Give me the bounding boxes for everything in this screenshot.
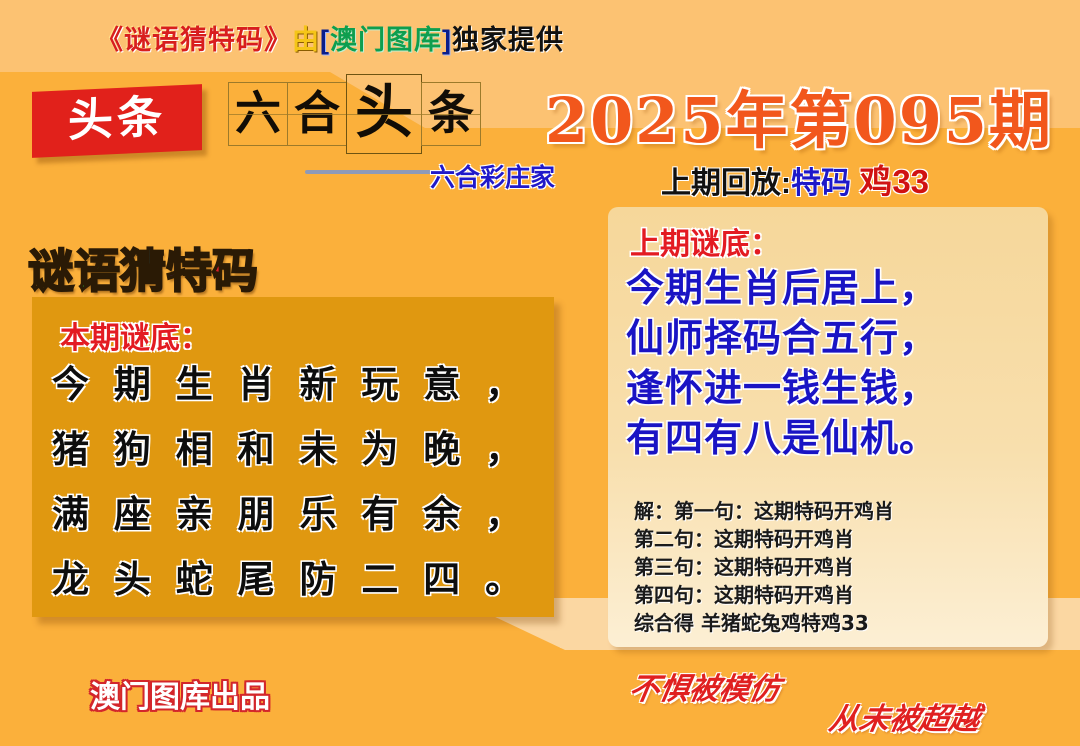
explanation-notes: 解：第一句：这期特码开鸡肖 第二句：这期特码开鸡肖 第三句：这期特码开鸡肖 第四… (634, 497, 1034, 637)
poem-line: 仙师择码合五行， (626, 313, 1036, 363)
explanation-line: 第三句：这期特码开鸡肖 (634, 553, 1034, 581)
tagline-part-bracket-open: [ (320, 25, 330, 55)
recap-value: 鸡33 (859, 163, 929, 200)
headline-badge-label: 头条 (32, 84, 202, 158)
recap-label: 上期回放: (661, 167, 791, 200)
footer-slogan-primary: 不惧被模仿 (626, 664, 784, 708)
riddle-line: 龙 头 蛇 尾 防 二 四 。 (52, 547, 542, 612)
rainbow-char: 谜 (28, 244, 74, 298)
header-tagline: 《谜语猜特码》由[澳门图库]独家提供 (0, 18, 660, 57)
poster-canvas: 《谜语猜特码》由[澳门图库]独家提供 头条 六 合 头 条 六合彩庄家 2025… (0, 0, 1080, 746)
recap-term: 特码 (791, 167, 851, 200)
previous-draw-recap: 上期回放:特码 鸡33 (545, 155, 1045, 203)
rainbow-char: 语 (74, 244, 120, 298)
rainbow-char: 猜 (120, 244, 166, 298)
rainbow-char: 码 (212, 244, 258, 298)
rainbow-char: 特 (166, 244, 212, 298)
footer-slogan-secondary: 从未被超越 (826, 694, 984, 738)
previous-riddle-lines: 今期生肖后居上， 仙师择码合五行， 逢怀进一钱生钱， 有四有八是仙机。 (626, 263, 1036, 463)
issue-period: 2025年第095期 (545, 70, 1045, 160)
previous-riddle-panel: 上期谜底： 今期生肖后居上， 仙师择码合五行， 逢怀进一钱生钱， 有四有八是仙机… (608, 207, 1048, 647)
brand-grid-cell: 条 (421, 82, 481, 146)
explanation-line: 第二句：这期特码开鸡肖 (634, 525, 1034, 553)
brand-grid-cell: 六 (228, 82, 288, 146)
riddle-line: 猪 狗 相 和 未 为 晚 ， (52, 417, 542, 482)
section-title-riddle: 谜语猜特码 (28, 235, 258, 301)
previous-riddle-title: 上期谜底： (630, 219, 780, 263)
riddle-line: 满 座 亲 朋 乐 有 余 ， (52, 482, 542, 547)
riddle-line: 今 期 生 肖 新 玩 意 ， (52, 352, 542, 417)
brand-grid-cell: 合 (287, 82, 347, 146)
explanation-summary: 综合得 羊猪蛇兔鸡特鸡33 (634, 609, 1034, 637)
current-riddle-panel: 本期谜底： 今 期 生 肖 新 玩 意 ， 猪 狗 相 和 未 为 晚 ， 满 … (32, 297, 554, 617)
tagline-part-bracket-close: ] (442, 25, 452, 55)
brand-grid-title: 六 合 头 条 (228, 82, 480, 154)
explanation-line: 第四句：这期特码开鸡肖 (634, 581, 1034, 609)
explanation-line: 解：第一句：这期特码开鸡肖 (634, 497, 1034, 525)
headline-badge: 头条 (32, 84, 202, 158)
footer-publisher: 澳门图库出品 (90, 672, 270, 716)
poem-line: 逢怀进一钱生钱， (626, 363, 1036, 413)
current-riddle-title: 本期谜底： (60, 313, 210, 357)
current-riddle-lines: 今 期 生 肖 新 玩 意 ， 猪 狗 相 和 未 为 晚 ， 满 座 亲 朋 … (52, 352, 542, 612)
poem-line: 今期生肖后居上， (626, 263, 1036, 313)
tagline-part-exclusive: 独家提供 (452, 25, 564, 55)
tagline-part-by: 由 (292, 25, 320, 55)
tagline-part-title: 《谜语猜特码》 (96, 25, 292, 55)
brand-grid-cell: 头 (346, 74, 422, 154)
poem-line: 有四有八是仙机。 (626, 413, 1036, 463)
brand-subtitle: 六合彩庄家 (430, 158, 555, 194)
tagline-part-source: 澳门图库 (330, 25, 442, 55)
